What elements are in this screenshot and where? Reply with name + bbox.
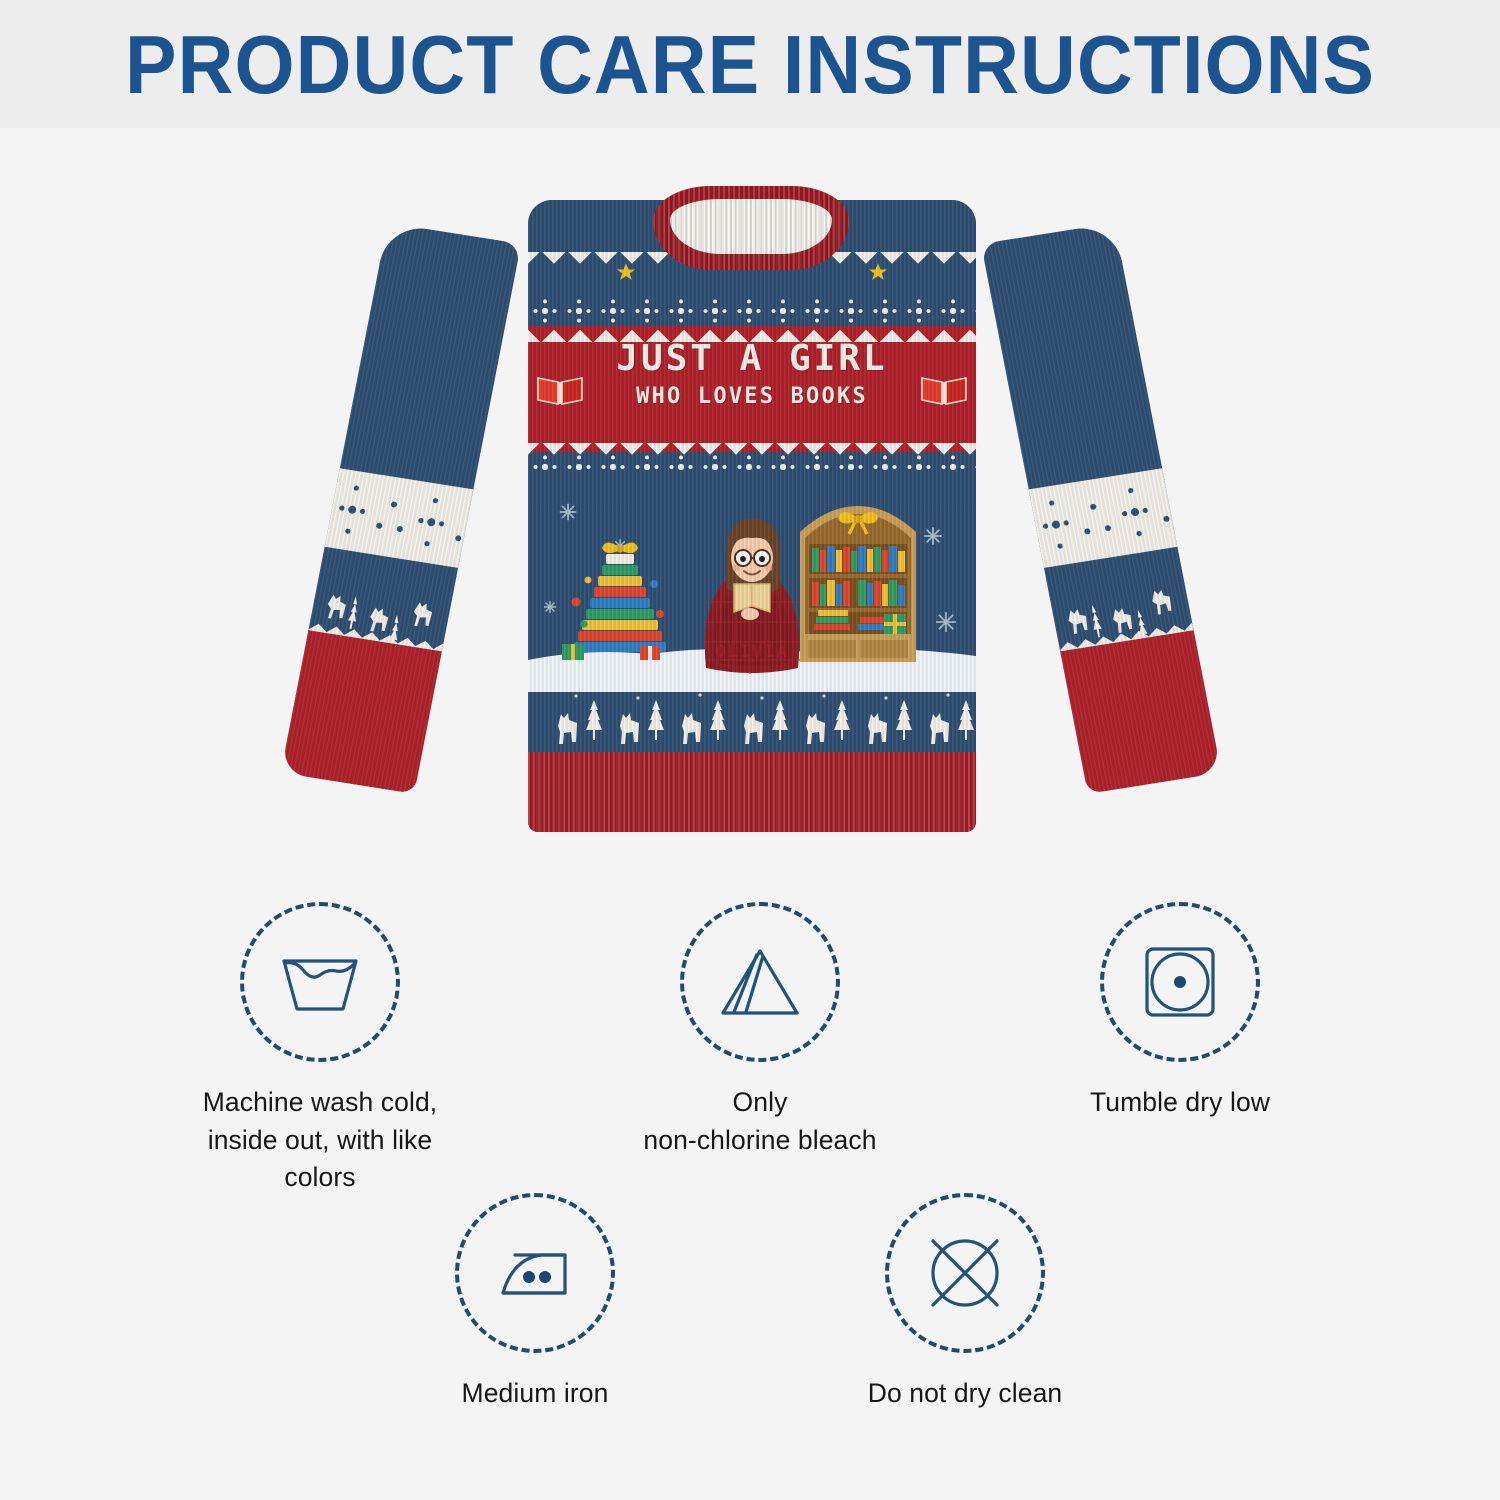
no-dry-clean-icon: [921, 1229, 1009, 1317]
sweater-hem: [528, 752, 976, 832]
care-label-line-1: Only: [610, 1084, 910, 1122]
care-icon-ring: [240, 902, 400, 1062]
care-label-line-2: inside out, with like colors: [170, 1122, 470, 1197]
star-icon: [868, 262, 888, 282]
care-item-tumble-dry: Tumble dry low: [1030, 902, 1330, 1122]
care-label-machine-wash: Machine wash cold, inside out, with like…: [170, 1084, 470, 1197]
care-label-line-1: Tumble dry low: [1030, 1084, 1330, 1122]
page-title: PRODUCT CARE INSTRUCTIONS: [125, 23, 1375, 106]
care-icon-ring: [680, 902, 840, 1062]
tumble-dry-icon: [1139, 941, 1221, 1023]
care-symbols-grid: Machine wash cold, inside out, with like…: [0, 888, 1500, 1500]
sweater-collar: [653, 186, 849, 270]
care-label-bleach: Only non-chlorine bleach: [610, 1084, 910, 1159]
triangle-bleach-icon: [717, 943, 803, 1021]
care-label-line-1: Medium iron: [385, 1375, 685, 1413]
iron-icon: [491, 1237, 579, 1309]
sweater-body: JUST A GIRL WHO LOVES BOOKS: [528, 200, 976, 832]
star-icon: [616, 262, 636, 282]
slogan-line-2: WHO LOVES BOOKS: [528, 384, 976, 409]
sweater-slogan: JUST A GIRL WHO LOVES BOOKS: [528, 340, 976, 409]
collar-inner: [670, 199, 832, 254]
care-item-bleach: Only non-chlorine bleach: [610, 902, 910, 1159]
care-label-line-1: Machine wash cold,: [170, 1084, 470, 1122]
wash-basin-icon: [276, 943, 364, 1021]
personalized-name: OLIVIA: [528, 642, 976, 662]
page-header: PRODUCT CARE INSTRUCTIONS: [0, 0, 1500, 128]
care-item-iron: Medium iron: [385, 1193, 685, 1413]
care-label-dry-clean: Do not dry clean: [815, 1375, 1115, 1413]
product-image-area: JUST A GIRL WHO LOVES BOOKS: [0, 128, 1500, 888]
sweater-product-image: JUST A GIRL WHO LOVES BOOKS: [380, 190, 1122, 850]
care-label-iron: Medium iron: [385, 1375, 685, 1413]
care-label-line-1: Do not dry clean: [815, 1375, 1115, 1413]
slogan-line-1: JUST A GIRL: [528, 340, 976, 378]
care-item-dry-clean: Do not dry clean: [815, 1193, 1115, 1413]
care-icon-ring: [885, 1193, 1045, 1353]
care-icon-ring: [1100, 902, 1260, 1062]
care-icon-ring: [455, 1193, 615, 1353]
care-instructions-page: PRODUCT CARE INSTRUCTIONS: [0, 0, 1500, 1500]
care-label-line-2: non-chlorine bleach: [610, 1122, 910, 1160]
care-label-tumble-dry: Tumble dry low: [1030, 1084, 1330, 1122]
care-item-machine-wash: Machine wash cold, inside out, with like…: [170, 902, 470, 1197]
